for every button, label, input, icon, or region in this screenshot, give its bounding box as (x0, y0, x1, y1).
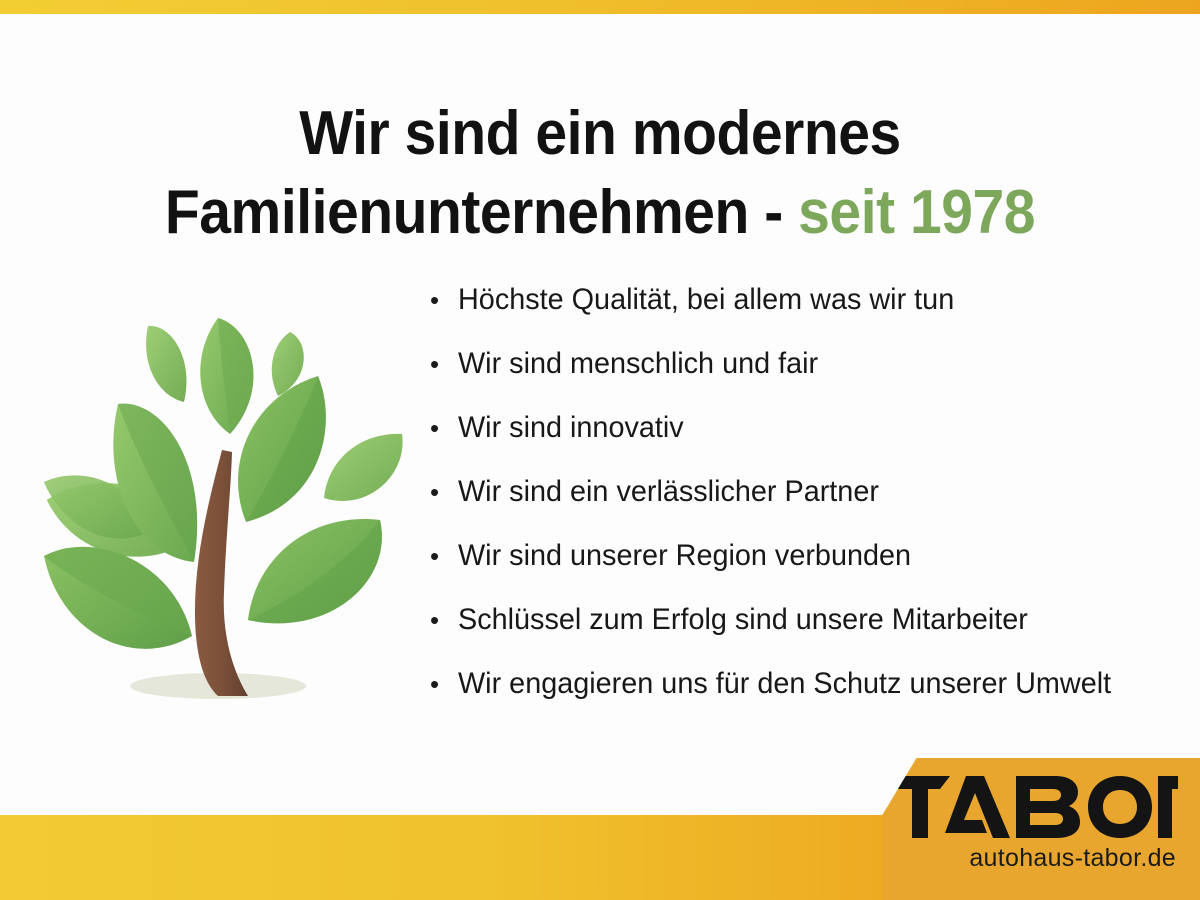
bullet-dot-icon: • (430, 351, 458, 377)
green-tree-logo (22, 298, 418, 714)
headline-line-2: Familienunternehmen - seit 1978 (48, 173, 1152, 252)
bullet-dot-icon: • (430, 415, 458, 441)
list-item-label: Wir engagieren uns für den Schutz unsere… (458, 667, 1161, 700)
list-item-label: Wir sind menschlich und fair (458, 347, 1161, 380)
list-item-label: Wir sind ein verlässlicher Partner (458, 475, 1161, 508)
value-bullet-list: • Höchste Qualität, bei allem was wir tu… (430, 283, 1190, 731)
top-accent-bar (0, 0, 1200, 14)
bullet-dot-icon: • (430, 287, 458, 313)
headline-line-2-main: Familienunternehmen - (165, 178, 798, 247)
list-item-label: Wir sind unserer Region verbunden (458, 539, 1161, 572)
logo-website-url[interactable]: autohaus-tabor.de (969, 846, 1176, 871)
list-item: • Wir sind unserer Region verbunden (430, 539, 1190, 603)
list-item: • Wir sind innovativ (430, 411, 1190, 475)
bullet-dot-icon: • (430, 479, 458, 505)
slide-canvas: Wir sind ein modernes Familienunternehme… (0, 0, 1200, 900)
list-item: • Wir sind ein verlässlicher Partner (430, 475, 1190, 539)
bullet-dot-icon: • (430, 671, 458, 697)
list-item-label: Höchste Qualität, bei allem was wir tun (458, 283, 1161, 316)
bullet-dot-icon: • (430, 543, 458, 569)
list-item: • Höchste Qualität, bei allem was wir tu… (430, 283, 1190, 347)
headline-accent: seit 1978 (798, 178, 1035, 247)
page-title: Wir sind ein modernes Familienunternehme… (48, 94, 1152, 253)
headline-line-1: Wir sind ein modernes (48, 94, 1152, 173)
list-item-label: Schlüssel zum Erfolg sind unsere Mitarbe… (458, 603, 1161, 636)
list-item-label: Wir sind innovativ (458, 411, 1161, 444)
list-item: • Schlüssel zum Erfolg sind unsere Mitar… (430, 603, 1190, 667)
bullet-dot-icon: • (430, 607, 458, 633)
tabor-wordmark (888, 776, 1178, 838)
list-item: • Wir sind menschlich und fair (430, 347, 1190, 411)
list-item: • Wir engagieren uns für den Schutz unse… (430, 667, 1190, 731)
